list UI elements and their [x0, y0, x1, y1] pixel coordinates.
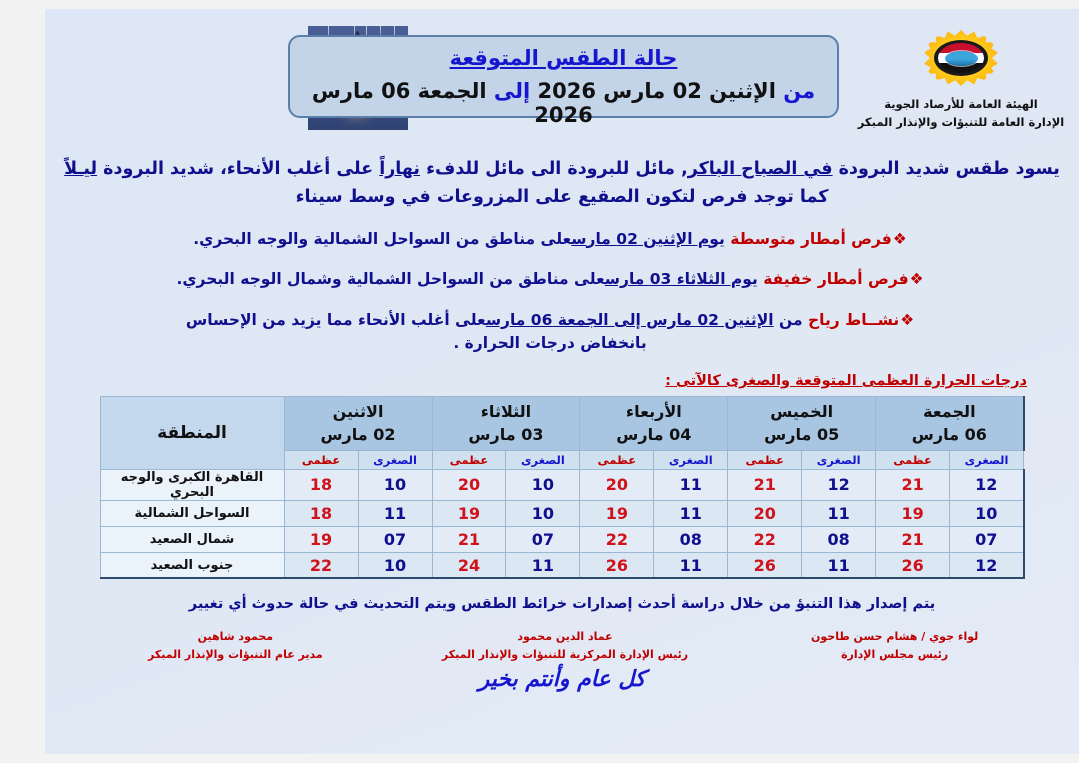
- table-caption: درجات الحرارة العظمى المتوقعة والصغرى كا…: [45, 373, 1057, 389]
- cell-min: 12: [950, 469, 1024, 500]
- cell-max: 26: [876, 552, 950, 578]
- temperature-table-wrap: الجمعة 06 مارس الخميس 05 مارس الأربعاء 0…: [100, 396, 1025, 580]
- cell-min: 11: [358, 500, 432, 526]
- cell-min: 11: [654, 469, 728, 500]
- bullet-diamond-icon: ❖: [910, 270, 924, 288]
- cell-region: شمال الصعيد: [100, 526, 284, 552]
- range-mid: إلى: [494, 79, 530, 103]
- bullet-rest: على أغلب الأنحاء مما يزيد من الإحساس: [186, 311, 486, 329]
- cell-min: 11: [654, 500, 728, 526]
- cell-min: 10: [950, 500, 1024, 526]
- org-department: الإدارة العامة للتنبؤات والإنذار المبكر: [847, 114, 1075, 132]
- intro-seg-c: , مائل للبرودة الى مائل للدفء: [426, 159, 688, 179]
- cell-min: 11: [654, 552, 728, 578]
- table-row: 12 26 11 26 11 26 11 24 10 22 جنوب الصعي…: [100, 552, 1024, 578]
- day-header-monday: الاثنين 02 مارس: [284, 396, 432, 450]
- forecast-page: حالة الطقس المتوقعة من الإثنين 02 مارس 2…: [45, 9, 1079, 754]
- day-name: الخميس: [728, 400, 875, 423]
- cell-max: 21: [876, 526, 950, 552]
- cell-max: 21: [728, 469, 802, 500]
- subheader-max: عظمى: [580, 450, 654, 469]
- cell-max: 19: [432, 500, 506, 526]
- subheader-max: عظمى: [284, 450, 358, 469]
- bullet-date: يوم الثلاثاء 03 مارس: [605, 270, 758, 288]
- cell-min: 07: [358, 526, 432, 552]
- intro-line-1: يسود طقس شديد البرودة في الصباح الباكر, …: [61, 155, 1063, 183]
- day-date: 04 مارس: [580, 423, 727, 446]
- intro-seg-a: يسود طقس شديد البرودة: [839, 159, 1060, 179]
- day-name: الثلاثاء: [433, 400, 580, 423]
- cell-max: 21: [876, 469, 950, 500]
- bullet-highlight: نشــاط رياح: [808, 311, 899, 329]
- cell-min: 10: [506, 469, 580, 500]
- forecast-bullets: ❖فرص أمطار متوسطة يوم الإثنين 02 مارسعلى…: [67, 228, 1051, 356]
- cell-region: القاهرة الكبرى والوجه البحري: [100, 469, 284, 500]
- temperature-table: الجمعة 06 مارس الخميس 05 مارس الأربعاء 0…: [100, 396, 1025, 580]
- cell-min: 12: [802, 469, 876, 500]
- intro-seg-f: ليـلاً: [64, 159, 97, 179]
- table-row: 07 21 08 22 08 22 07 21 07 19 شمال الصعي…: [100, 526, 1024, 552]
- bullet-highlight: فرص أمطار خفيفة: [763, 270, 908, 288]
- signature-general-manager: محمود شاهين مدير عام التنبؤات والإنذار ا…: [73, 628, 398, 663]
- cell-max: 24: [432, 552, 506, 578]
- bullet-rest: على مناطق من السواحل الشمالية وشمال الوج…: [176, 270, 604, 288]
- day-header-wednesday: الأربعاء 04 مارس: [580, 396, 728, 450]
- bullet-diamond-icon: ❖: [893, 230, 907, 248]
- bullet-pre: من: [779, 311, 803, 329]
- bullet-item: ❖فرص أمطار متوسطة يوم الإثنين 02 مارسعلى…: [67, 228, 1051, 252]
- cell-region: جنوب الصعيد: [100, 552, 284, 578]
- cell-min: 10: [358, 469, 432, 500]
- subheader-min: الصغرى: [506, 450, 580, 469]
- cell-max: 20: [432, 469, 506, 500]
- range-start: الإثنين 02 مارس 2026: [538, 79, 776, 103]
- cell-min: 12: [950, 552, 1024, 578]
- cell-min: 08: [654, 526, 728, 552]
- signature-name: لواء جوي / هشام حسن طاحون: [732, 628, 1057, 646]
- intro-seg-e: على أغلب الأنحاء، شديد البرودة: [103, 159, 373, 179]
- cell-min: 07: [950, 526, 1024, 552]
- signature-role: مدير عام التنبؤات والإنذار المبكر: [73, 646, 398, 664]
- signature-chairman: لواء جوي / هشام حسن طاحون رئيس مجلس الإد…: [732, 628, 1057, 663]
- bullet-date: يوم الإثنين 02 مارس: [571, 230, 725, 248]
- day-name: الجمعة: [876, 400, 1022, 423]
- cell-max: 20: [728, 500, 802, 526]
- document-header: حالة الطقس المتوقعة من الإثنين 02 مارس 2…: [45, 9, 1079, 149]
- subheader-max: عظمى: [728, 450, 802, 469]
- day-header-friday: الجمعة 06 مارس: [876, 396, 1024, 450]
- cell-min: 07: [506, 526, 580, 552]
- cell-region: السواحل الشمالية: [100, 500, 284, 526]
- bullet-item: ❖نشــاط رياح من الإثنين 02 مارس إلى الجم…: [67, 309, 1051, 356]
- bullet-second-line: بانخفاض درجات الحرارة .: [67, 332, 1033, 356]
- table-header-days: الجمعة 06 مارس الخميس 05 مارس الأربعاء 0…: [100, 396, 1024, 450]
- title-box: حالة الطقس المتوقعة من الإثنين 02 مارس 2…: [288, 35, 839, 118]
- page-title: حالة الطقس المتوقعة: [290, 46, 837, 70]
- subheader-max: عظمى: [432, 450, 506, 469]
- organization-block: الهيئة العامة للأرصاد الجوية الإدارة الع…: [847, 27, 1075, 132]
- bullet-highlight: فرص أمطار متوسطة: [730, 230, 892, 248]
- cell-min: 11: [802, 500, 876, 526]
- signature-name: محمود شاهين: [73, 628, 398, 646]
- cell-max: 21: [432, 526, 506, 552]
- cell-max: 20: [580, 469, 654, 500]
- day-date: 03 مارس: [433, 423, 580, 446]
- signature-name: عماد الدين محمود: [403, 628, 728, 646]
- cell-max: 19: [284, 526, 358, 552]
- intro-seg-b: في الصباح الباكر: [688, 159, 833, 179]
- intro-line-2: كما توجد فرص لتكون الصقيع على المزروعات …: [61, 183, 1063, 211]
- bullet-rest: على مناطق من السواحل الشمالية والوجه الب…: [193, 230, 571, 248]
- signature-role: رئيس مجلس الإدارة: [732, 646, 1057, 664]
- cell-max: 22: [580, 526, 654, 552]
- signature-central-head: عماد الدين محمود رئيس الإدارة المركزية ل…: [403, 628, 728, 663]
- cell-min: 11: [802, 552, 876, 578]
- bullet-diamond-icon: ❖: [900, 311, 914, 329]
- greeting-text: كل عام وأنتم بخير: [45, 666, 1079, 692]
- bullet-item: ❖فرص أمطار خفيفة يوم الثلاثاء 03 مارسعلى…: [67, 268, 1051, 292]
- cell-max: 26: [728, 552, 802, 578]
- cell-min: 10: [506, 500, 580, 526]
- cell-max: 19: [580, 500, 654, 526]
- cell-max: 19: [876, 500, 950, 526]
- day-date: 06 مارس: [876, 423, 1022, 446]
- day-header-tuesday: الثلاثاء 03 مارس: [432, 396, 580, 450]
- cell-min: 10: [358, 552, 432, 578]
- intro-seg-d: نهاراً: [379, 159, 420, 179]
- day-header-thursday: الخميس 05 مارس: [728, 396, 876, 450]
- cell-max: 18: [284, 469, 358, 500]
- cell-min: 08: [802, 526, 876, 552]
- meteorological-authority-sun-emblem-icon: [922, 27, 1000, 89]
- org-name: الهيئة العامة للأرصاد الجوية: [847, 96, 1075, 114]
- table-row: 10 19 11 20 11 19 10 19 11 18 السواحل ال…: [100, 500, 1024, 526]
- subheader-min: الصغرى: [802, 450, 876, 469]
- subheader-max: عظمى: [876, 450, 950, 469]
- signature-role: رئيس الإدارة المركزية للتنبؤات والإنذار …: [403, 646, 728, 664]
- range-prefix: من: [783, 79, 815, 103]
- table-row: 12 21 12 21 11 20 10 20 10 18 القاهرة ال…: [100, 469, 1024, 500]
- signature-block: لواء جوي / هشام حسن طاحون رئيس مجلس الإد…: [73, 628, 1057, 663]
- subheader-min: الصغرى: [358, 450, 432, 469]
- bullet-date: الإثنين 02 مارس إلى الجمعة 06 مارس: [486, 311, 774, 329]
- cell-max: 22: [728, 526, 802, 552]
- forecast-date-range: من الإثنين 02 مارس 2026 إلى الجمعة 06 ما…: [290, 79, 837, 127]
- cell-max: 18: [284, 500, 358, 526]
- day-name: الاثنين: [285, 400, 432, 423]
- day-date: 05 مارس: [728, 423, 875, 446]
- issuance-note: يتم إصدار هذا التنبؤ من خلال دراسة أحدث …: [45, 596, 1079, 612]
- cell-max: 26: [580, 552, 654, 578]
- cell-min: 11: [506, 552, 580, 578]
- subheader-min: الصغرى: [950, 450, 1024, 469]
- subheader-min: الصغرى: [654, 450, 728, 469]
- day-name: الأربعاء: [580, 400, 727, 423]
- cell-max: 22: [284, 552, 358, 578]
- day-date: 02 مارس: [285, 423, 432, 446]
- region-column-header: المنطقة: [100, 396, 284, 469]
- intro-paragraph: يسود طقس شديد البرودة في الصباح الباكر, …: [61, 155, 1063, 212]
